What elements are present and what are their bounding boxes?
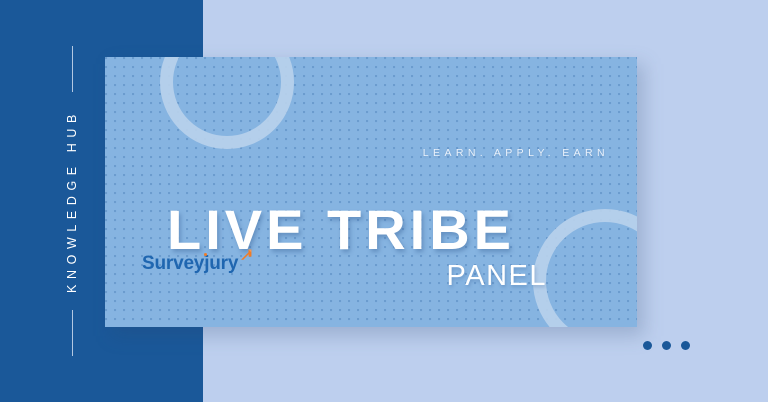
- logo-arrow-icon: [239, 249, 252, 262]
- banner-canvas: KNOWLEDGE HUB LEARN. APPLY. EARN LIVE TR…: [0, 0, 768, 402]
- card-tagline: LEARN. APPLY. EARN: [105, 147, 609, 159]
- logo-text-secondary: jury: [204, 253, 238, 274]
- hero-card: LEARN. APPLY. EARN LIVE TRIBE PANEL Surv…: [105, 57, 637, 327]
- surveyjury-logo: Surveyjury: [142, 254, 252, 273]
- logo-text-primary: Survey: [142, 253, 204, 274]
- rail-line-bottom-icon: [72, 310, 73, 356]
- ring-decor-topleft-icon: [160, 57, 294, 149]
- sidebar-vertical-label: KNOWLEDGE HUB: [66, 109, 79, 293]
- decor-dot-icon: [681, 341, 690, 350]
- logo-orange-dot-icon: [204, 253, 207, 256]
- dot-decor-group: [643, 341, 690, 350]
- surveyjury-logo-text: Surveyjury: [142, 254, 238, 273]
- card-title: LIVE TRIBE: [105, 202, 577, 258]
- decor-dot-icon: [662, 341, 671, 350]
- decor-dot-icon: [643, 341, 652, 350]
- knowledge-hub-rail: KNOWLEDGE HUB: [56, 46, 88, 356]
- rail-line-top-icon: [72, 46, 73, 92]
